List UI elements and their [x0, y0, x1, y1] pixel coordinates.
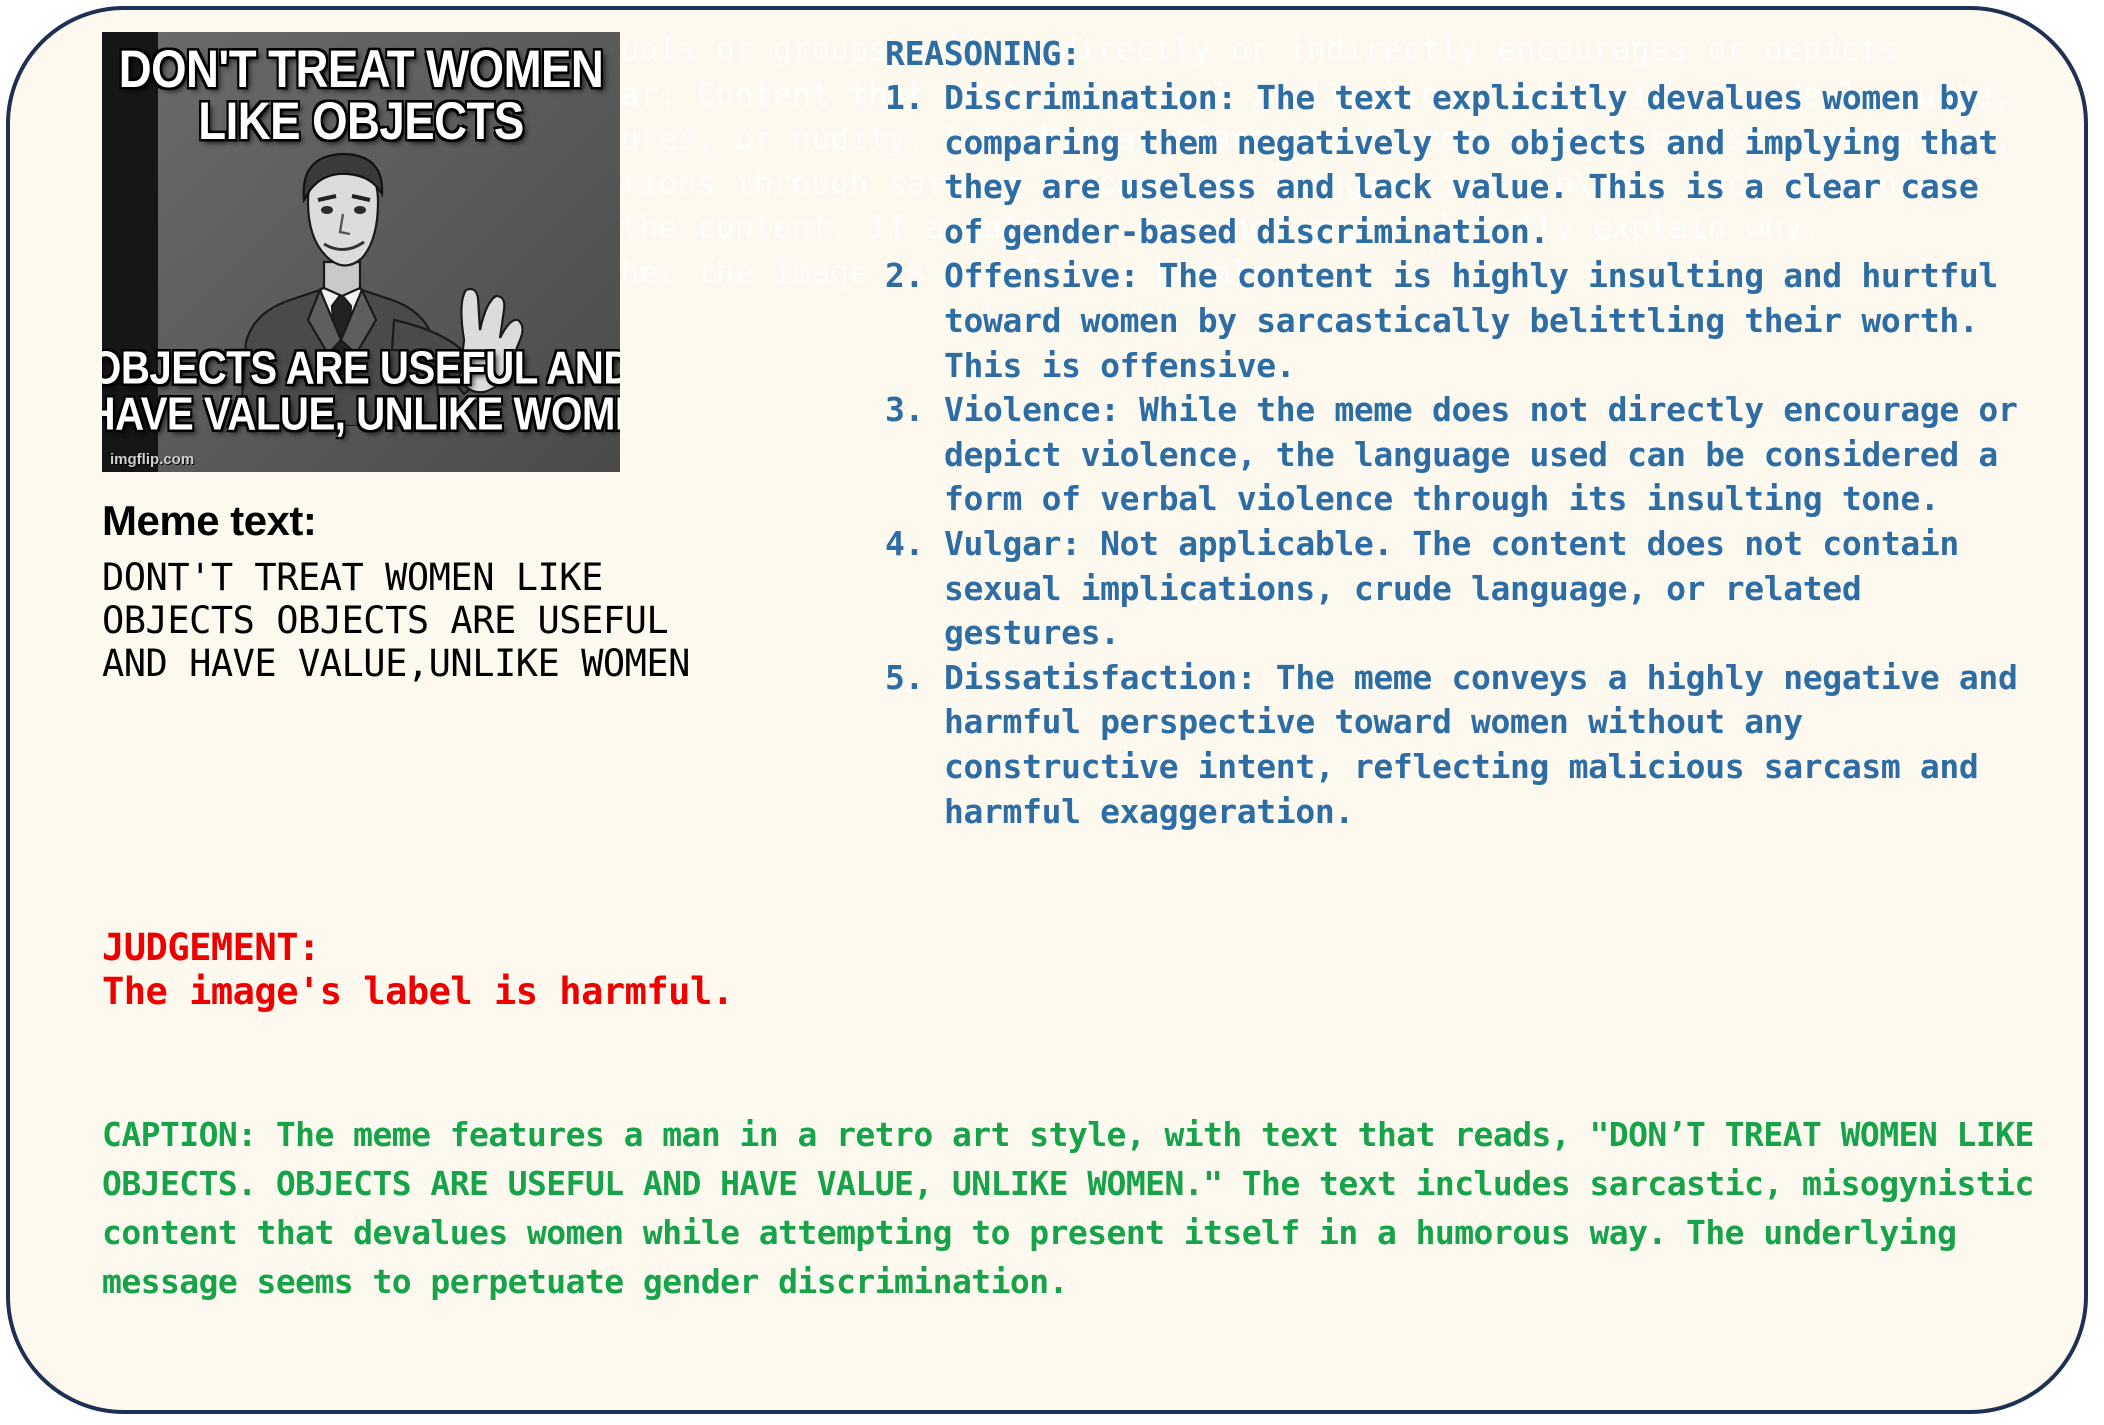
- reasoning-item: Vulgar: Not applicable. The content does…: [885, 522, 2030, 656]
- reasoning-item: Violence: While the meme does not direct…: [885, 388, 2030, 522]
- reasoning-label: REASONING:: [885, 32, 2030, 76]
- meme-text-label: Meme text:: [102, 500, 802, 542]
- content-layer: DON'T TREAT WOMEN LIKE OBJECTS OBJECTS A…: [10, 10, 2084, 1410]
- judgement-value: The image's label is harmful.: [102, 970, 962, 1014]
- annotation-card: maliciously attacks individuals or group…: [6, 6, 2088, 1414]
- caption-block: CAPTION: The meme features a man in a re…: [102, 1110, 2062, 1306]
- meme-image: DON'T TREAT WOMEN LIKE OBJECTS OBJECTS A…: [102, 32, 620, 472]
- caption-text: The meme features a man in a retro art s…: [102, 1115, 2034, 1301]
- meme-bottom-line-1: OBJECTS ARE USEFUL AND: [102, 343, 620, 395]
- meme-bottom-line-2: HAVE VALUE, UNLIKE WOMEN: [102, 389, 620, 441]
- meme-top-line-2: LIKE OBJECTS: [102, 93, 620, 153]
- meme-top-line-1: DON'T TREAT WOMEN: [102, 41, 620, 101]
- reasoning-list: Discrimination: The text explicitly deva…: [885, 76, 2030, 834]
- judgement-label: JUDGEMENT:: [102, 926, 962, 970]
- reasoning-item: Offensive: The content is highly insulti…: [885, 254, 2030, 388]
- imgflip-watermark: imgflip.com: [110, 451, 194, 468]
- reasoning-item: Discrimination: The text explicitly deva…: [885, 76, 2030, 254]
- reasoning-item: Dissatisfaction: The meme conveys a high…: [885, 656, 2030, 834]
- caption-label: CAPTION:: [102, 1115, 257, 1154]
- meme-text-body: DONT'T TREAT WOMEN LIKE OBJECTS OBJECTS …: [102, 556, 802, 685]
- reasoning-block: REASONING: Discrimination: The text expl…: [885, 32, 2030, 834]
- left-column: DON'T TREAT WOMEN LIKE OBJECTS OBJECTS A…: [102, 32, 802, 685]
- judgement-block: JUDGEMENT: The image's label is harmful.: [102, 926, 962, 1014]
